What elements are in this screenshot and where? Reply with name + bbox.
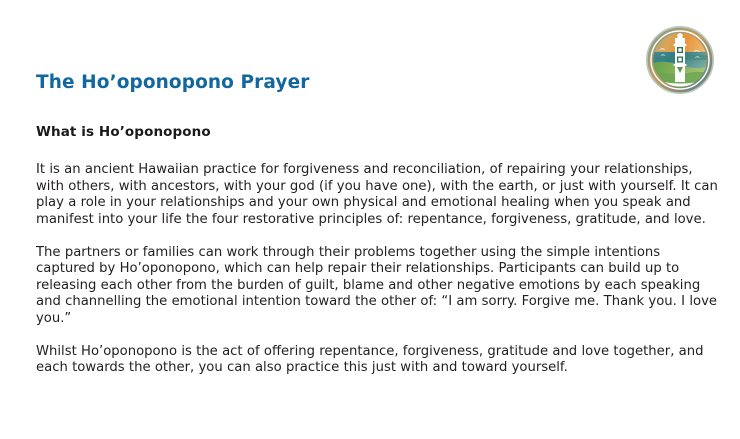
document-header: The Ho’oponopono Prayer — [0, 0, 740, 110]
document-page: The Ho’oponopono Prayer — [0, 0, 740, 439]
paragraph-1: It is an ancient Hawaiian practice for f… — [36, 162, 720, 228]
lighthouse-emblem-icon — [646, 26, 714, 94]
paragraph-2: The partners or families can work throug… — [36, 245, 720, 328]
paragraph-3: Whilst Ho’oponopono is the act of offeri… — [36, 344, 720, 377]
organisation-logo — [646, 26, 714, 94]
lighthouse-tower — [674, 32, 687, 83]
section-heading: What is Ho’oponopono — [36, 124, 720, 140]
document-body: What is Ho’oponopono It is an ancient Ha… — [36, 124, 720, 377]
page-title: The Ho’oponopono Prayer — [36, 73, 309, 93]
